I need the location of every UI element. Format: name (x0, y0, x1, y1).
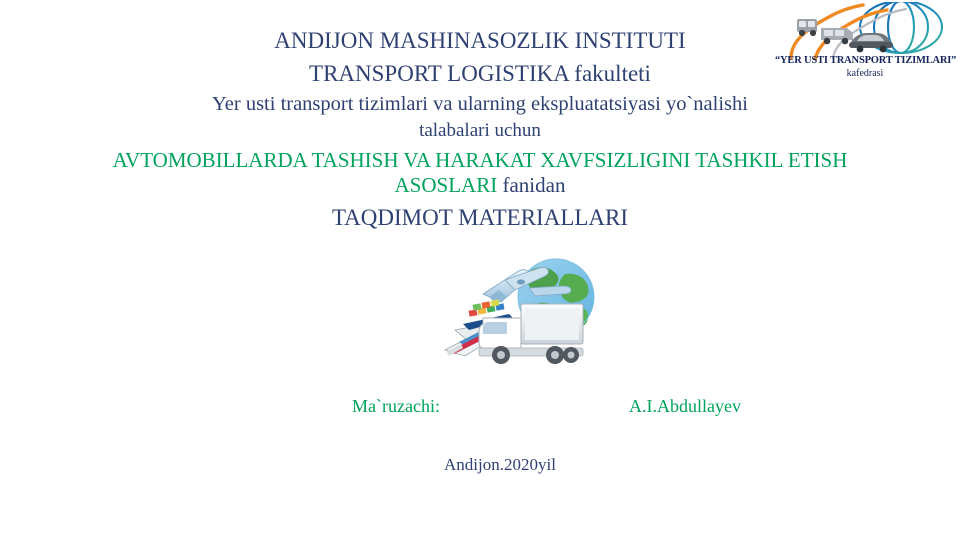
place-and-year: Andijon.2020yil (0, 455, 960, 475)
subject-title-suffix: fanidan (502, 173, 565, 197)
lecturer-name: A.I.Abdullayev (629, 396, 741, 417)
audience-line: talabalari uchun (0, 119, 960, 146)
title-slide: “YER USTI TRANSPORT TIZIMLARI” kafedrasi… (0, 0, 960, 540)
logistics-transport-illustration (443, 252, 615, 368)
lecturer-label: Ma`ruzachi: (352, 396, 440, 417)
place-and-year-text: Andijon.2020yil (444, 455, 556, 474)
subject-title-text: AVTOMOBILLARDA TASHISH VA HARAKAT XAVFSI… (113, 148, 848, 197)
institute-name: ANDIJON MASHINASOZLIK INSTITUTI (0, 26, 960, 59)
direction-name: Yer usti transport tizimlari va ularning… (0, 91, 960, 120)
faculty-name: TRANSPORT LOGISTIKA fakulteti (0, 59, 960, 91)
subject-title: AVTOMOBILLARDA TASHISH VA HARAKAT XAVFSI… (70, 146, 890, 198)
heading-block: ANDIJON MASHINASOZLIK INSTITUTI TRANSPOR… (0, 26, 960, 233)
truck-glyph (479, 304, 583, 364)
document-type: TAQDIMOT MATERIALLARI (0, 198, 960, 233)
